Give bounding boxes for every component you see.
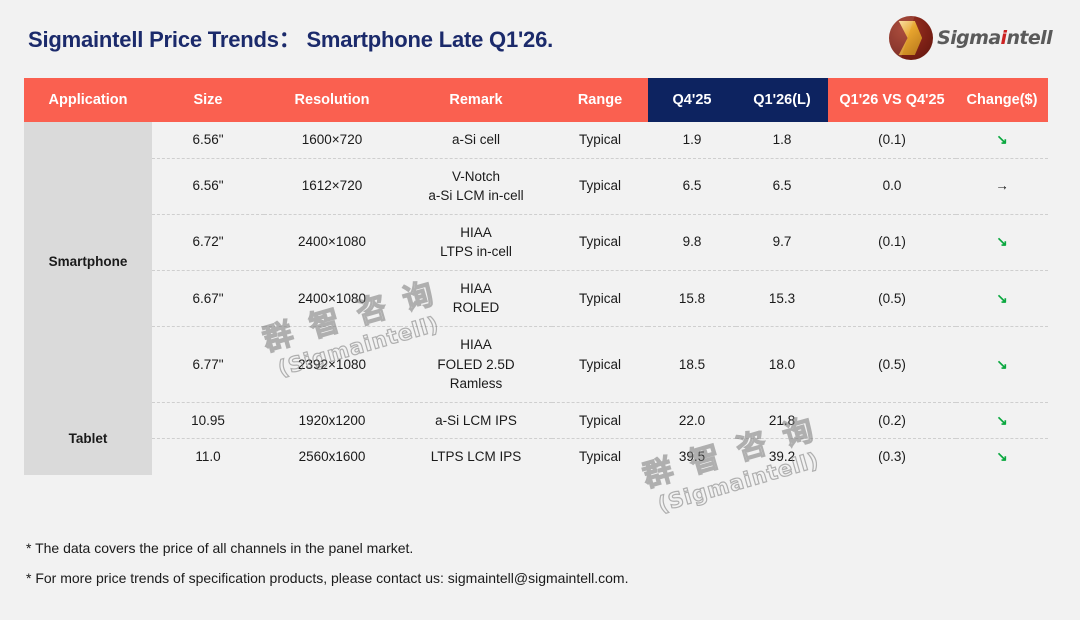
range-cell: Typical xyxy=(552,158,648,214)
q4-25-cell: 18.5 xyxy=(648,326,736,402)
column-header-change[interactable]: Change($) xyxy=(956,78,1048,122)
table-header: ApplicationSizeResolutionRemarkRangeQ4'2… xyxy=(24,78,1048,122)
q4-25-cell: 39.5 xyxy=(648,439,736,475)
table-row: 6.56"1612×720V-Notcha-Si LCM in-cellTypi… xyxy=(24,158,1048,214)
remark-cell: HIAALTPS in-cell xyxy=(400,214,552,270)
q1-26-l-cell: 6.5 xyxy=(736,158,828,214)
price-table-container: ApplicationSizeResolutionRemarkRangeQ4'2… xyxy=(24,78,1048,532)
column-header-q1-26-l[interactable]: Q1'26(L) xyxy=(736,78,828,122)
change-value-cell: (0.5) xyxy=(828,326,956,402)
q4-25-cell: 9.8 xyxy=(648,214,736,270)
resolution-cell: 1612×720 xyxy=(264,158,400,214)
q4-25-cell: 15.8 xyxy=(648,270,736,326)
range-cell: Typical xyxy=(552,122,648,158)
change-trend-cell: ↘ xyxy=(956,402,1048,439)
column-header-resolution[interactable]: Resolution xyxy=(264,78,400,122)
logo-text-part2: ntell xyxy=(1006,27,1052,49)
change-value-cell: (0.3) xyxy=(828,439,956,475)
change-trend-cell: ↘ xyxy=(956,214,1048,270)
resolution-cell: 1600×720 xyxy=(264,122,400,158)
change-trend-cell: ↘ xyxy=(956,326,1048,402)
remark-cell: HIAAROLED xyxy=(400,270,552,326)
change-value-cell: (0.2) xyxy=(828,402,956,439)
page-header: Sigmaintell Price Trends： Smartphone Lat… xyxy=(0,0,1080,78)
column-header-application[interactable]: Application xyxy=(24,78,152,122)
trend-flat-icon: → xyxy=(995,178,1009,193)
change-trend-cell: ↘ xyxy=(956,270,1048,326)
remark-cell: V-Notcha-Si LCM in-cell xyxy=(400,158,552,214)
sigmaintell-logo: Sigmaintell xyxy=(889,16,1052,60)
table-header-row: ApplicationSizeResolutionRemarkRangeQ4'2… xyxy=(24,78,1048,122)
size-cell: 6.77" xyxy=(152,326,264,402)
column-header-size[interactable]: Size xyxy=(152,78,264,122)
remark-cell: a-Si LCM IPS xyxy=(400,402,552,439)
logo-text-part1: Sigma xyxy=(937,27,1000,49)
footnote-contact: * For more price trends of specification… xyxy=(26,568,1046,590)
range-cell: Typical xyxy=(552,439,648,475)
column-header-range[interactable]: Range xyxy=(552,78,648,122)
trend-down-icon: ↘ xyxy=(996,413,1007,428)
q1-26-l-cell: 1.8 xyxy=(736,122,828,158)
q1-26-l-cell: 21.8 xyxy=(736,402,828,439)
range-cell: Typical xyxy=(552,402,648,439)
change-value-cell: (0.1) xyxy=(828,214,956,270)
resolution-cell: 2400×1080 xyxy=(264,270,400,326)
remark-cell: a-Si cell xyxy=(400,122,552,158)
column-header-q4-25[interactable]: Q4'25 xyxy=(648,78,736,122)
trend-down-icon: ↘ xyxy=(996,291,1007,306)
sigmaintell-logo-text: Sigmaintell xyxy=(937,29,1052,48)
table-row: 6.72"2400×1080HIAALTPS in-cellTypical9.8… xyxy=(24,214,1048,270)
trend-down-icon: ↘ xyxy=(996,357,1007,372)
range-cell: Typical xyxy=(552,270,648,326)
q4-25-cell: 6.5 xyxy=(648,158,736,214)
size-cell: 6.72" xyxy=(152,214,264,270)
table-row: 6.67"2400×1080HIAAROLEDTypical15.815.3(0… xyxy=(24,270,1048,326)
change-value-cell: (0.1) xyxy=(828,122,956,158)
table-row: Tablet10.951920x1200a-Si LCM IPSTypical2… xyxy=(24,402,1048,439)
size-cell: 11.0 xyxy=(152,439,264,475)
footnote-data-coverage: * The data covers the price of all chann… xyxy=(26,538,1046,560)
remark-cell: LTPS LCM IPS xyxy=(400,439,552,475)
group-cell-tablet: Tablet xyxy=(24,402,152,475)
footnotes: * The data covers the price of all chann… xyxy=(26,538,1046,597)
trend-down-icon: ↘ xyxy=(996,449,1007,464)
resolution-cell: 2392×1080 xyxy=(264,326,400,402)
change-trend-cell: → xyxy=(956,158,1048,214)
size-cell: 6.56" xyxy=(152,122,264,158)
size-cell: 6.56" xyxy=(152,158,264,214)
sigmaintell-logo-icon xyxy=(889,16,933,60)
price-table: ApplicationSizeResolutionRemarkRangeQ4'2… xyxy=(24,78,1048,475)
resolution-cell: 2400×1080 xyxy=(264,214,400,270)
trend-down-icon: ↘ xyxy=(996,234,1007,249)
q1-26-l-cell: 18.0 xyxy=(736,326,828,402)
table-row: Smartphone6.56"1600×720a-Si cellTypical1… xyxy=(24,122,1048,158)
q1-26-l-cell: 9.7 xyxy=(736,214,828,270)
change-value-cell: 0.0 xyxy=(828,158,956,214)
group-cell-smartphone: Smartphone xyxy=(24,122,152,402)
change-trend-cell: ↘ xyxy=(956,439,1048,475)
column-header-remark[interactable]: Remark xyxy=(400,78,552,122)
range-cell: Typical xyxy=(552,214,648,270)
resolution-cell: 2560x1600 xyxy=(264,439,400,475)
q1-26-l-cell: 39.2 xyxy=(736,439,828,475)
range-cell: Typical xyxy=(552,326,648,402)
q4-25-cell: 1.9 xyxy=(648,122,736,158)
table-row: 6.77"2392×1080HIAAFOLED 2.5DRamlessTypic… xyxy=(24,326,1048,402)
remark-cell: HIAAFOLED 2.5DRamless xyxy=(400,326,552,402)
size-cell: 10.95 xyxy=(152,402,264,439)
size-cell: 6.67" xyxy=(152,270,264,326)
trend-down-icon: ↘ xyxy=(996,132,1007,147)
change-value-cell: (0.5) xyxy=(828,270,956,326)
change-trend-cell: ↘ xyxy=(956,122,1048,158)
page-title: Sigmaintell Price Trends： Smartphone Lat… xyxy=(28,22,553,54)
resolution-cell: 1920x1200 xyxy=(264,402,400,439)
table-body: Smartphone6.56"1600×720a-Si cellTypical1… xyxy=(24,122,1048,475)
q1-26-l-cell: 15.3 xyxy=(736,270,828,326)
q4-25-cell: 22.0 xyxy=(648,402,736,439)
table-row: 11.02560x1600LTPS LCM IPSTypical39.539.2… xyxy=(24,439,1048,475)
column-header-q1-26-vs-q4-25[interactable]: Q1'26 VS Q4'25 xyxy=(828,78,956,122)
